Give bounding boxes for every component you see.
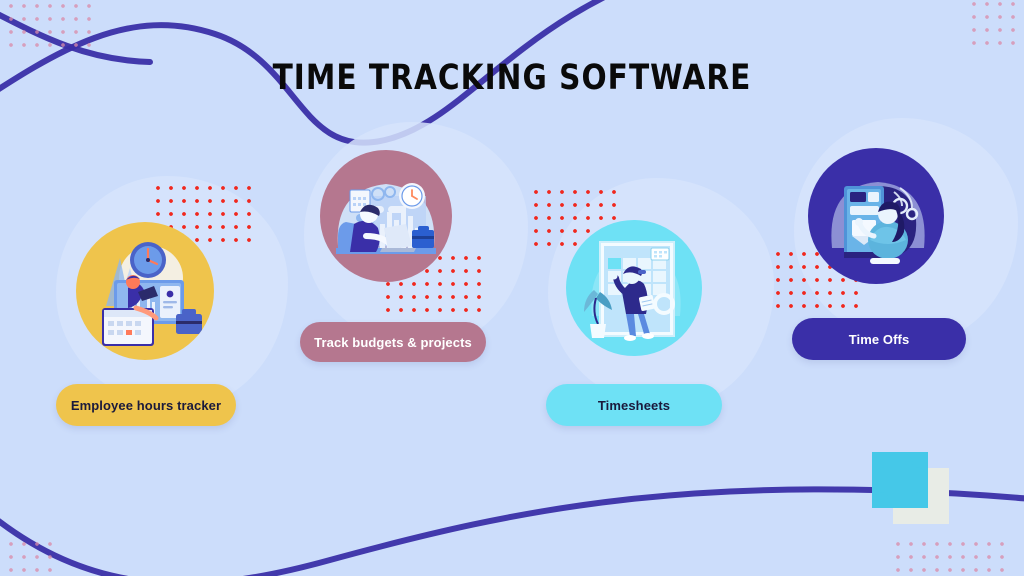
card-label-text: Timesheets: [598, 398, 670, 413]
card-employee-hours-tracker[interactable]: Employee hours tracker: [48, 176, 298, 428]
card-label-pill-track-budgets-projects[interactable]: Track budgets & projects: [300, 322, 486, 362]
illustration-employee-hours: [76, 222, 214, 360]
card-label-text: Time Offs: [849, 332, 910, 347]
illustration-circle-employee-hours-tracker: [76, 222, 214, 360]
card-time-offs[interactable]: Time Offs: [780, 114, 1024, 364]
illustration-circle-track-budgets: [320, 150, 452, 282]
illustration-time-offs: [808, 148, 944, 284]
card-timesheets[interactable]: Timesheets: [536, 178, 786, 428]
dot-grid-bottom-left: [0, 542, 58, 576]
dot-grid-top-right: [972, 2, 1024, 50]
illustration-circle-time-offs: [808, 148, 944, 284]
page-title: TIME TRACKING SOFTWARE: [31, 58, 994, 98]
illustration-track-budgets: [320, 150, 452, 282]
infographic-canvas: TIME TRACKING SOFTWARE: [0, 0, 1024, 576]
illustration-circle-timesheets: [566, 220, 702, 356]
card-label-pill-time-offs[interactable]: Time Offs: [792, 318, 966, 360]
card-label-text: Employee hours tracker: [71, 398, 221, 413]
illustration-timesheets: [566, 220, 702, 356]
card-track-budgets-projects[interactable]: Track budgets & projects: [292, 116, 542, 366]
card-label-text: Track budgets & projects: [314, 335, 472, 350]
cross-shape-pale: [893, 468, 949, 524]
card-label-pill-timesheets[interactable]: Timesheets: [546, 384, 722, 426]
card-label-pill-employee-hours-tracker[interactable]: Employee hours tracker: [56, 384, 236, 426]
dot-grid-bottom-right: [896, 542, 1012, 576]
cross-shape-cyan: [872, 452, 928, 508]
dot-grid-top-left: [0, 4, 96, 52]
